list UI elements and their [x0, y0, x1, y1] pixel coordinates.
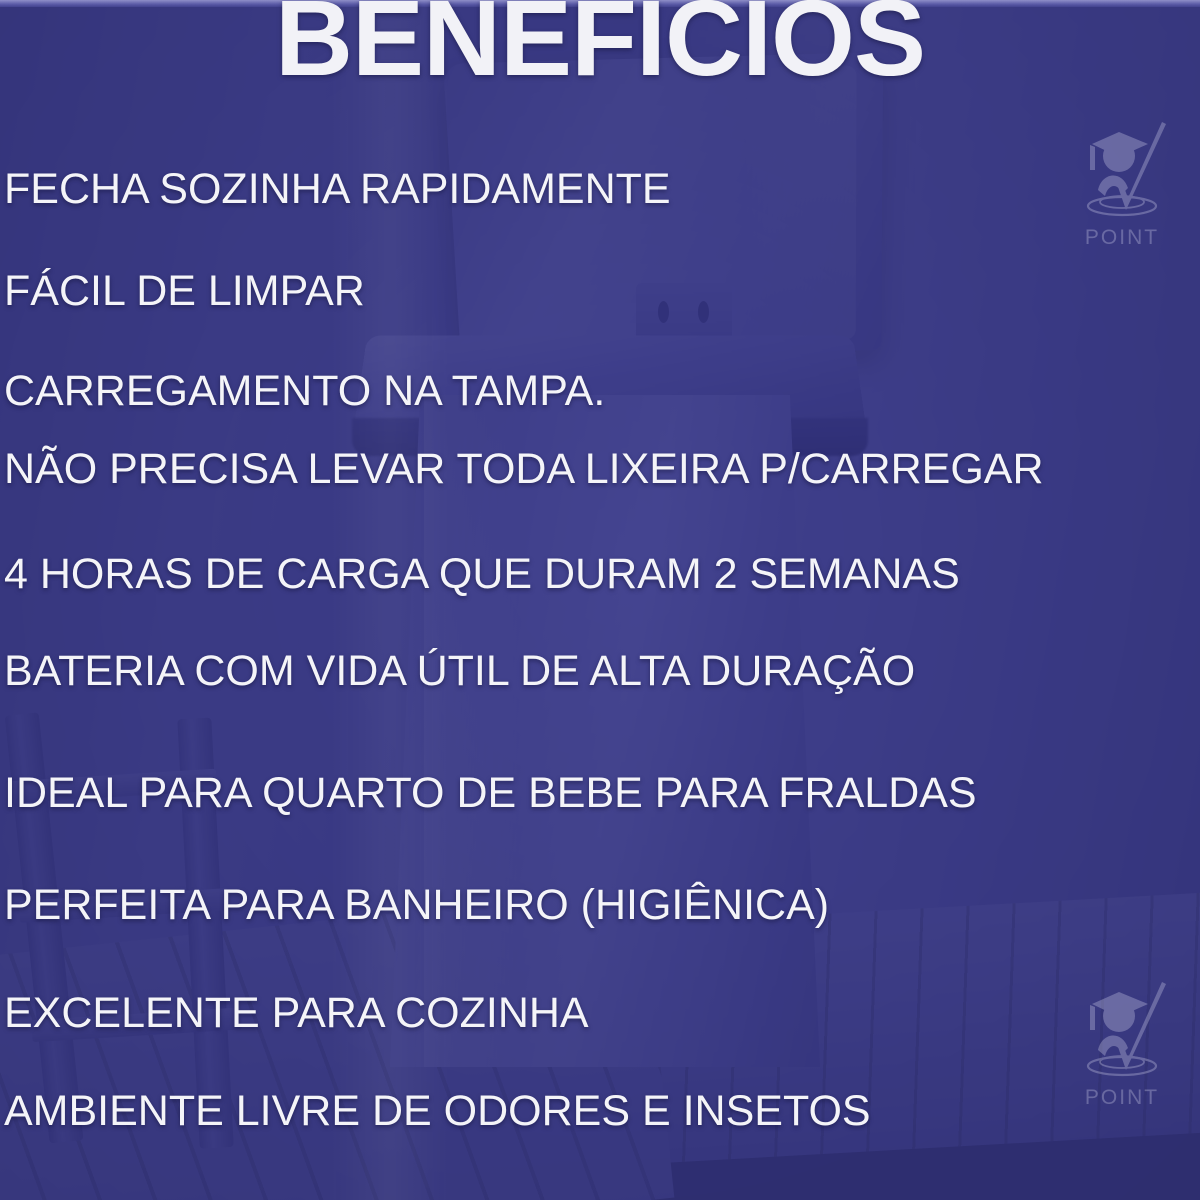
benefit-line: PERFEITA PARA BANHEIRO (HIGIÊNICA): [4, 884, 829, 927]
benefit-line: FECHA SOZINHA RAPIDAMENTE: [4, 168, 671, 211]
benefit-line: EXCELENTE PARA COZINHA: [4, 992, 589, 1035]
poster-title: BENEFÍCIOS: [0, 0, 1200, 92]
benefit-line: AMBIENTE LIVRE DE ODORES E INSETOS: [4, 1090, 871, 1133]
benefit-line: FÁCIL DE LIMPAR: [4, 270, 365, 313]
benefit-line: IDEAL PARA QUARTO DE BEBE PARA FRALDAS: [4, 772, 977, 815]
benefit-line: NÃO PRECISA LEVAR TODA LIXEIRA P/CARREGA…: [4, 448, 1044, 491]
benefit-line: BATERIA COM VIDA ÚTIL DE ALTA DURAÇÃO: [4, 650, 915, 693]
benefit-line: 4 HORAS DE CARGA QUE DURAM 2 SEMANAS: [4, 553, 960, 596]
benefit-line: CARREGAMENTO NA TAMPA.: [4, 370, 605, 413]
benefits-poster: POINT POINT BENEFÍCIOS FECHA SOZINHA RAP…: [0, 0, 1200, 1200]
